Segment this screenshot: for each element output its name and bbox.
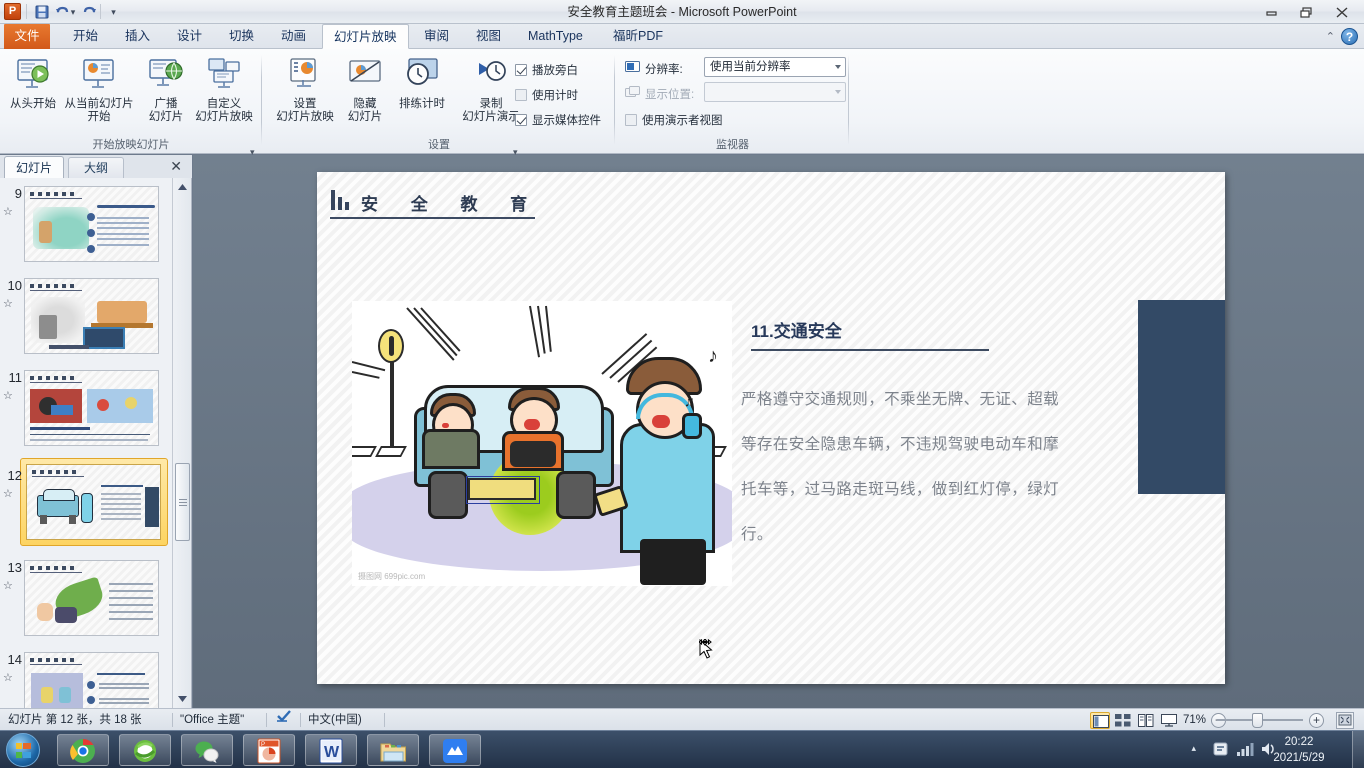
slide-thumbnail-10[interactable]: 10 ☆ [0,278,172,364]
chevron-down-icon-resolution [835,65,841,69]
thumbnail-preview [24,370,159,446]
tab-transitions[interactable]: 切换 [218,24,265,49]
tab-file[interactable]: 文件 [4,24,50,49]
thumbnail-preview [24,186,159,262]
taskbar-internet-explorer-icon[interactable] [119,734,171,766]
spellcheck-icon[interactable] [276,709,293,731]
group-label-setup: 设置 [263,136,615,152]
thumbnail-number: 11 [4,370,22,385]
ribbon-group-setup: 设置 幻灯片放映 隐藏 幻灯片 排练计时 录制 [263,49,615,154]
slide-editing-area[interactable]: 安 全 教 育 [193,155,1364,708]
close-button[interactable] [1327,3,1356,21]
panel-tab-bar: 幻灯片 大纲 ✕ [0,155,192,178]
slide-thumbnail-9[interactable]: 9 ☆ [0,186,172,272]
start-from-current-slide-button[interactable]: 从当前幻灯片 开始 [62,57,136,124]
tab-slides[interactable]: 幻灯片 [4,156,64,178]
start-from-beginning-label: 从头开始 [10,98,56,110]
crosswalk-stripe [375,446,407,457]
pedestrian-sign-icon [378,329,404,363]
checkbox-mark-show-media-controls [515,114,527,126]
slide-header-title: 安 全 教 育 [361,190,541,215]
windows-start-button[interactable] [6,733,40,767]
slide-position-indicator[interactable]: 幻灯片 第 12 张，共 18 张 [8,709,142,731]
start-from-beginning-button[interactable]: 从头开始 [4,57,62,111]
use-presenter-view-checkbox[interactable]: 使用演示者视图 [625,112,723,128]
animation-star-icon: ☆ [3,297,13,310]
tab-mathtype[interactable]: MathType [517,24,594,49]
rehearse-timings-label: 排练计时 [399,98,445,110]
set-up-slide-show-button[interactable]: 设置 幻灯片放映 [271,57,339,124]
broadcast-slide-show-button[interactable]: 广播 幻灯片 [142,57,190,124]
tab-animations[interactable]: 动画 [270,24,317,49]
checkbox-mark-play-narrations [515,64,527,76]
use-presenter-view-label: 使用演示者视图 [642,112,723,128]
tab-insert[interactable]: 插入 [114,24,161,49]
minimize-button[interactable] [1257,3,1286,21]
slide-header-underline [330,217,535,219]
broadcast-icon [142,57,190,95]
use-timings-checkbox[interactable]: 使用计时 [515,87,578,103]
tab-outline[interactable]: 大纲 [68,157,124,178]
slides-outline-panel: 幻灯片 大纲 ✕ 9 ☆ 10 ☆ [0,155,192,708]
taskbar-powerpoint-icon[interactable]: P [243,734,295,766]
from-current-slide-icon [62,57,136,95]
rehearse-timings-button[interactable]: 排练计时 [391,57,453,111]
thumbnail-preview [26,464,161,540]
bar-chart-icon [331,190,353,210]
scrollbar-thumb[interactable] [175,463,190,541]
slide-thumbnail-11[interactable]: 11 ☆ [0,370,172,456]
start-from-current-slide-label-1: 从当前幻灯片 [65,98,134,110]
resolution-label-row: 分辨率: [625,61,683,77]
slide-section-underline [751,349,989,351]
group-label-monitors: 监视器 [616,136,849,152]
thumbnail-preview [24,652,159,708]
start-from-current-slide-label-2: 开始 [62,111,136,124]
resolution-select[interactable]: 使用当前分辨率 [704,57,846,77]
slide-thumbnail-14[interactable]: 14 ☆ [0,652,172,708]
taskbar-file-explorer-icon[interactable] [367,734,419,766]
broadcast-label-2: 幻灯片 [142,111,190,124]
tab-foxit-pdf[interactable]: 福昕PDF [602,24,674,49]
tab-home[interactable]: 开始 [62,24,109,49]
zoom-in-button[interactable]: + [1309,713,1324,728]
use-timings-label: 使用计时 [532,87,578,103]
headphone-cup [682,413,702,439]
slide-accent-block [1138,300,1225,494]
zoom-slider-handle[interactable] [1252,713,1263,728]
set-up-slide-show-label-1: 设置 [294,98,317,110]
pedestrian-body [620,423,715,553]
hide-slide-label-1: 隐藏 [354,98,377,110]
slide-section-title: 11.交通安全 [751,317,842,342]
play-narrations-label: 播放旁白 [532,62,578,78]
show-media-controls-checkbox[interactable]: 显示媒体控件 [515,112,601,128]
svg-text:P: P [261,742,265,748]
custom-slide-show-label-2: 幻灯片放映 [190,111,258,124]
show-on-label: 显示位置: [645,86,694,102]
fit-slide-to-window-icon[interactable] [1336,712,1354,729]
taskbar-word-icon[interactable]: W [305,734,357,766]
animation-star-icon: ☆ [3,205,13,218]
thumbnail-preview [24,560,159,636]
animation-star-icon: ☆ [3,487,13,500]
record-slide-show-label-1: 录制 [480,98,503,110]
play-narrations-checkbox[interactable]: 播放旁白 [515,62,578,78]
chevron-down-icon-show-on [835,90,841,94]
scroll-down-arrow-icon[interactable] [175,691,190,706]
slide-thumbnail-12[interactable]: 12 ☆ [0,462,172,554]
taskbar-blue-app-icon[interactable] [429,734,481,766]
slide-thumbnail-list[interactable]: 9 ☆ 10 ☆ [0,178,172,708]
show-on-select [704,82,846,102]
language-indicator[interactable]: 中文(中国) [308,709,362,731]
move-cursor [699,639,721,665]
custom-slide-show-label-1: 自定义 [207,98,242,110]
music-note-icon: ♫ [684,393,695,409]
thumbnail-number: 10 [4,278,22,293]
help-icon[interactable]: ? [1341,28,1358,45]
animation-star-icon: ☆ [3,579,13,592]
rehearse-timings-icon [391,57,453,95]
tab-design[interactable]: 设计 [166,24,213,49]
sogou-input-icon[interactable] [1212,740,1230,761]
svg-text:W: W [324,744,340,761]
show-media-controls-label: 显示媒体控件 [532,112,601,128]
zoom-level-label[interactable]: 71% [1183,709,1206,731]
restore-button[interactable] [1291,3,1320,21]
hide-slide-icon [341,57,389,95]
thumbnail-number: 13 [4,560,22,575]
ribbon: 从头开始 从当前幻灯片 开始 广播 幻灯片 自定义 [0,49,1364,154]
tab-review[interactable]: 审阅 [413,24,460,49]
tab-slide-show[interactable]: 幻灯片放映 [322,24,409,49]
thumbnail-number: 14 [4,652,22,667]
status-bar: 幻灯片 第 12 张，共 18 张 "Office 主题" 中文(中国) 71%… [0,708,1364,730]
broadcast-label-1: 广播 [155,98,178,110]
reading-view-button[interactable] [1136,712,1156,729]
checkbox-mark-use-timings [515,89,527,101]
slide-thumbnail-13[interactable]: 13 ☆ [0,560,172,646]
close-panel-icon[interactable]: ✕ [170,158,182,175]
selected-shape-outline [466,476,540,504]
resolution-value: 使用当前分辨率 [710,61,791,73]
group-label-start-slide-show: 开始放映幻灯片 [0,136,262,152]
slide-show-view-button[interactable] [1159,712,1179,729]
pedestrian-legs [640,539,706,585]
window-title: 安全教育主题班会 - Microsoft PowerPoint [0,0,1364,24]
set-up-slide-show-label-2: 幻灯片放映 [271,111,339,124]
clock-area[interactable]: 20:22 2021/5/29 [1256,734,1342,766]
tab-view[interactable]: 视图 [465,24,512,49]
hide-slide-button[interactable]: 隐藏 幻灯片 [341,57,389,124]
tray-date: 2021/5/29 [1256,750,1342,766]
show-desktop-button[interactable] [1352,731,1364,768]
resolution-label: 分辨率: [645,61,683,77]
ribbon-group-start-slide-show: 从头开始 从当前幻灯片 开始 广播 幻灯片 自定义 [0,49,262,154]
windows-taskbar: P W ▴ [0,730,1364,768]
image-watermark: 摄图网 699pic.com [358,571,425,582]
ribbon-group-monitors: 分辨率: 使用当前分辨率 显示位置: 使用演示者视图 监视器 [616,49,849,154]
powerpoint-window: P ▾ ▾ 安全教育主题班会 - Microsoft PowerPoint 文件… [0,0,1364,768]
taskbar-chrome-icon[interactable] [57,734,109,766]
slide-body-text[interactable]: 严格遵守交通规则，不乘坐无牌、无证、超载等存在安全隐患车辆，不违规驾驶电动车和摩… [741,377,1061,557]
network-icon[interactable] [1236,741,1254,760]
minimize-ribbon-icon[interactable]: ⌃ [1326,30,1335,43]
thumbnail-number: 12 [4,468,22,483]
traffic-safety-illustration[interactable]: ♪ ♫ 摄图网 699pic.com [352,301,732,586]
taskbar-wechat-icon[interactable] [181,734,233,766]
from-beginning-icon [4,57,62,95]
hide-slide-label-2: 幻灯片 [341,111,389,124]
animation-star-icon: ☆ [3,389,13,402]
set-up-slide-show-icon [271,57,339,95]
thumbnail-number: 9 [4,186,22,201]
thumbnail-scrollbar[interactable] [172,178,191,708]
animation-star-icon: ☆ [3,671,13,684]
show-on-icon [625,86,640,102]
current-slide[interactable]: 安 全 教 育 [317,172,1225,684]
thumbnail-preview [24,278,159,354]
slide-sorter-view-button[interactable] [1113,712,1133,729]
tray-time: 20:22 [1256,734,1342,750]
custom-slide-show-icon [190,57,258,95]
music-note-icon: ♪ [708,345,718,368]
custom-slide-show-button[interactable]: 自定义 幻灯片放映 [190,57,258,124]
checkbox-mark-use-presenter-view [625,114,637,126]
ribbon-tab-strip: 文件 开始 插入 设计 切换 动画 幻灯片放映 审阅 视图 MathType 福… [0,24,1364,49]
resolution-icon [625,61,640,77]
theme-name[interactable]: "Office 主题" [180,709,244,731]
title-bar: P ▾ ▾ 安全教育主题班会 - Microsoft PowerPoint [0,0,1364,24]
scroll-up-arrow-icon[interactable] [175,180,190,195]
show-hidden-icons-arrow[interactable]: ▴ [1191,743,1196,754]
show-on-label-row: 显示位置: [625,86,694,102]
crosswalk-stripe [352,446,377,457]
normal-view-button[interactable] [1090,712,1110,729]
